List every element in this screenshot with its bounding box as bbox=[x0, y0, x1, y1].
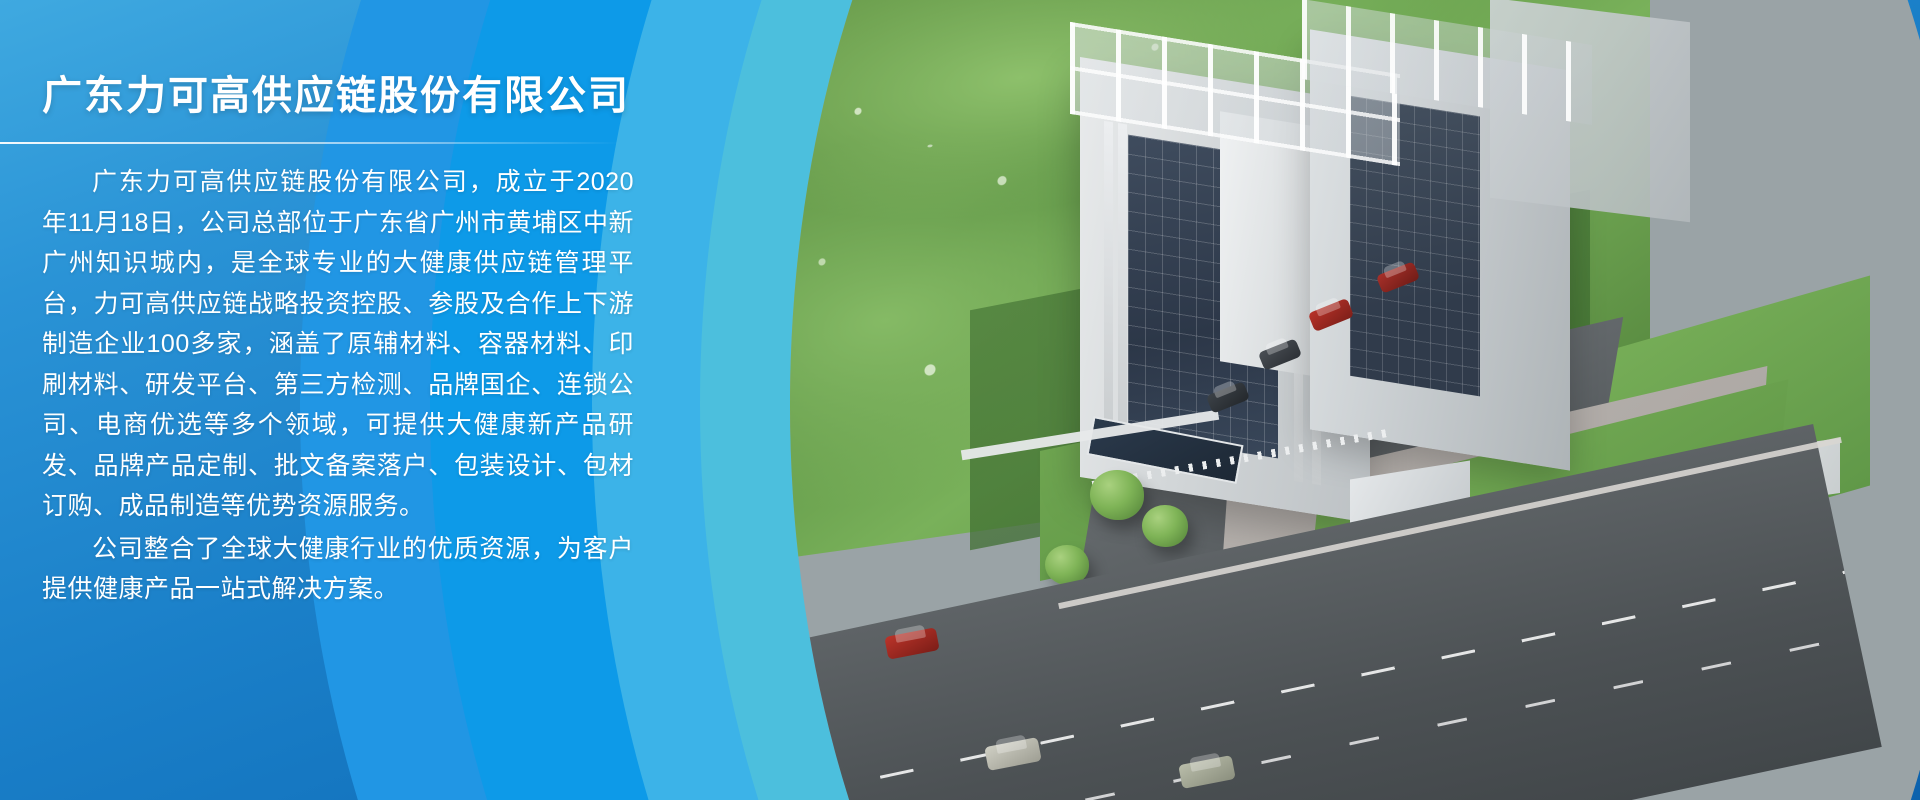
description-paragraph-2: 公司整合了全球大健康行业的优质资源，为客户提供健康产品一站式解决方案。 bbox=[42, 529, 634, 610]
tree bbox=[1142, 505, 1188, 547]
title-divider bbox=[0, 142, 620, 144]
campus-photo-content bbox=[790, 0, 1920, 800]
description-paragraph-1: 广东力可高供应链股份有限公司，成立于2020年11月18日，公司总部位于广东省广… bbox=[42, 162, 634, 527]
lane-marking bbox=[790, 634, 1858, 800]
campus-photo bbox=[790, 0, 1920, 800]
lane-marking bbox=[790, 571, 1845, 800]
facade-pier bbox=[1118, 123, 1127, 454]
company-profile-banner: 广东力可高供应链股份有限公司 广东力可高供应链股份有限公司，成立于2020年11… bbox=[0, 0, 1920, 800]
text-panel: 广东力可高供应链股份有限公司 广东力可高供应链股份有限公司，成立于2020年11… bbox=[0, 0, 700, 800]
page-title: 广东力可高供应链股份有限公司 bbox=[42, 72, 700, 120]
tree bbox=[1090, 470, 1144, 520]
company-description: 广东力可高供应链股份有限公司，成立于2020年11月18日，公司总部位于广东省广… bbox=[42, 162, 634, 610]
facade-pier bbox=[1104, 121, 1113, 452]
